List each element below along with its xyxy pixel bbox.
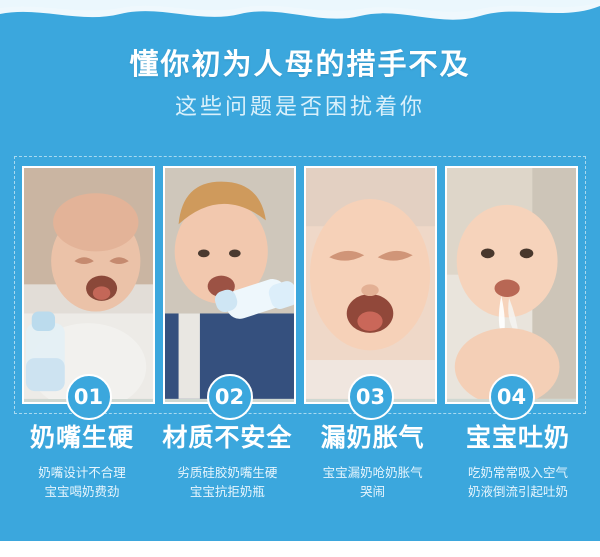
- caption-line: 宝宝漏奶呛奶胀气: [303, 463, 443, 482]
- number-badge: 02: [207, 374, 253, 420]
- page-subtitle: 这些问题是否困扰着你: [0, 94, 600, 123]
- caption-line: 吃奶常常吸入空气: [448, 463, 588, 482]
- caption-line: 哭闹: [303, 482, 443, 501]
- caption-lines: 宝宝漏奶呛奶胀气 哭闹: [303, 463, 443, 502]
- caption-cell-03: 漏奶胀气 宝宝漏奶呛奶胀气 哭闹: [303, 424, 443, 534]
- crying-baby-close-up-photo: [306, 168, 435, 399]
- number-cell-01: 01: [22, 374, 155, 418]
- photo-card-01: [22, 166, 155, 404]
- caption-title: 漏奶胀气: [303, 424, 443, 453]
- caption-title: 奶嘴生硬: [12, 424, 152, 453]
- caption-title: 宝宝吐奶: [448, 424, 588, 453]
- page-title: 懂你初为人母的措手不及: [0, 46, 600, 82]
- crying-baby-with-bottle-photo: [24, 168, 153, 399]
- photo-row: [22, 166, 578, 404]
- caption-title: 材质不安全: [157, 424, 297, 453]
- wave-decoration-top: [0, 0, 600, 40]
- photo-card-04: [445, 166, 578, 404]
- caption-lines: 吃奶常常吸入空气 奶液倒流引起吐奶: [448, 463, 588, 502]
- number-badge: 01: [66, 374, 112, 420]
- caption-line: 宝宝喝奶费劲: [12, 482, 152, 501]
- caption-lines: 奶嘴设计不合理 宝宝喝奶费劲: [12, 463, 152, 502]
- headline-block: 懂你初为人母的措手不及 这些问题是否困扰着你: [0, 46, 600, 123]
- caption-cell-04: 宝宝吐奶 吃奶常常吸入空气 奶液倒流引起吐奶: [448, 424, 588, 534]
- number-badge: 04: [489, 374, 535, 420]
- number-cell-02: 02: [163, 374, 296, 418]
- poster-root: 懂你初为人母的措手不及 这些问题是否困扰着你: [0, 0, 600, 557]
- number-badge: 03: [348, 374, 394, 420]
- caption-line: 奶嘴设计不合理: [12, 463, 152, 482]
- caption-cell-01: 奶嘴生硬 奶嘴设计不合理 宝宝喝奶费劲: [12, 424, 152, 534]
- number-cell-03: 03: [304, 374, 437, 418]
- caption-line: 奶液倒流引起吐奶: [448, 482, 588, 501]
- bottom-white-strip: [0, 541, 600, 557]
- caption-line: 宝宝抗拒奶瓶: [157, 482, 297, 501]
- caption-lines: 劣质硅胶奶嘴生硬 宝宝抗拒奶瓶: [157, 463, 297, 502]
- caption-cell-02: 材质不安全 劣质硅胶奶嘴生硬 宝宝抗拒奶瓶: [157, 424, 297, 534]
- caption-line: 劣质硅胶奶嘴生硬: [157, 463, 297, 482]
- photo-card-02: [163, 166, 296, 404]
- toddler-drinking-bottle-photo: [165, 168, 294, 399]
- baby-spitting-milk-photo: [447, 168, 576, 399]
- photo-card-03: [304, 166, 437, 404]
- number-cell-04: 04: [445, 374, 578, 418]
- number-badge-row: 01 02 03 04: [22, 374, 578, 418]
- caption-row: 奶嘴生硬 奶嘴设计不合理 宝宝喝奶费劲 材质不安全 劣质硅胶奶嘴生硬 宝宝抗拒奶…: [12, 424, 588, 534]
